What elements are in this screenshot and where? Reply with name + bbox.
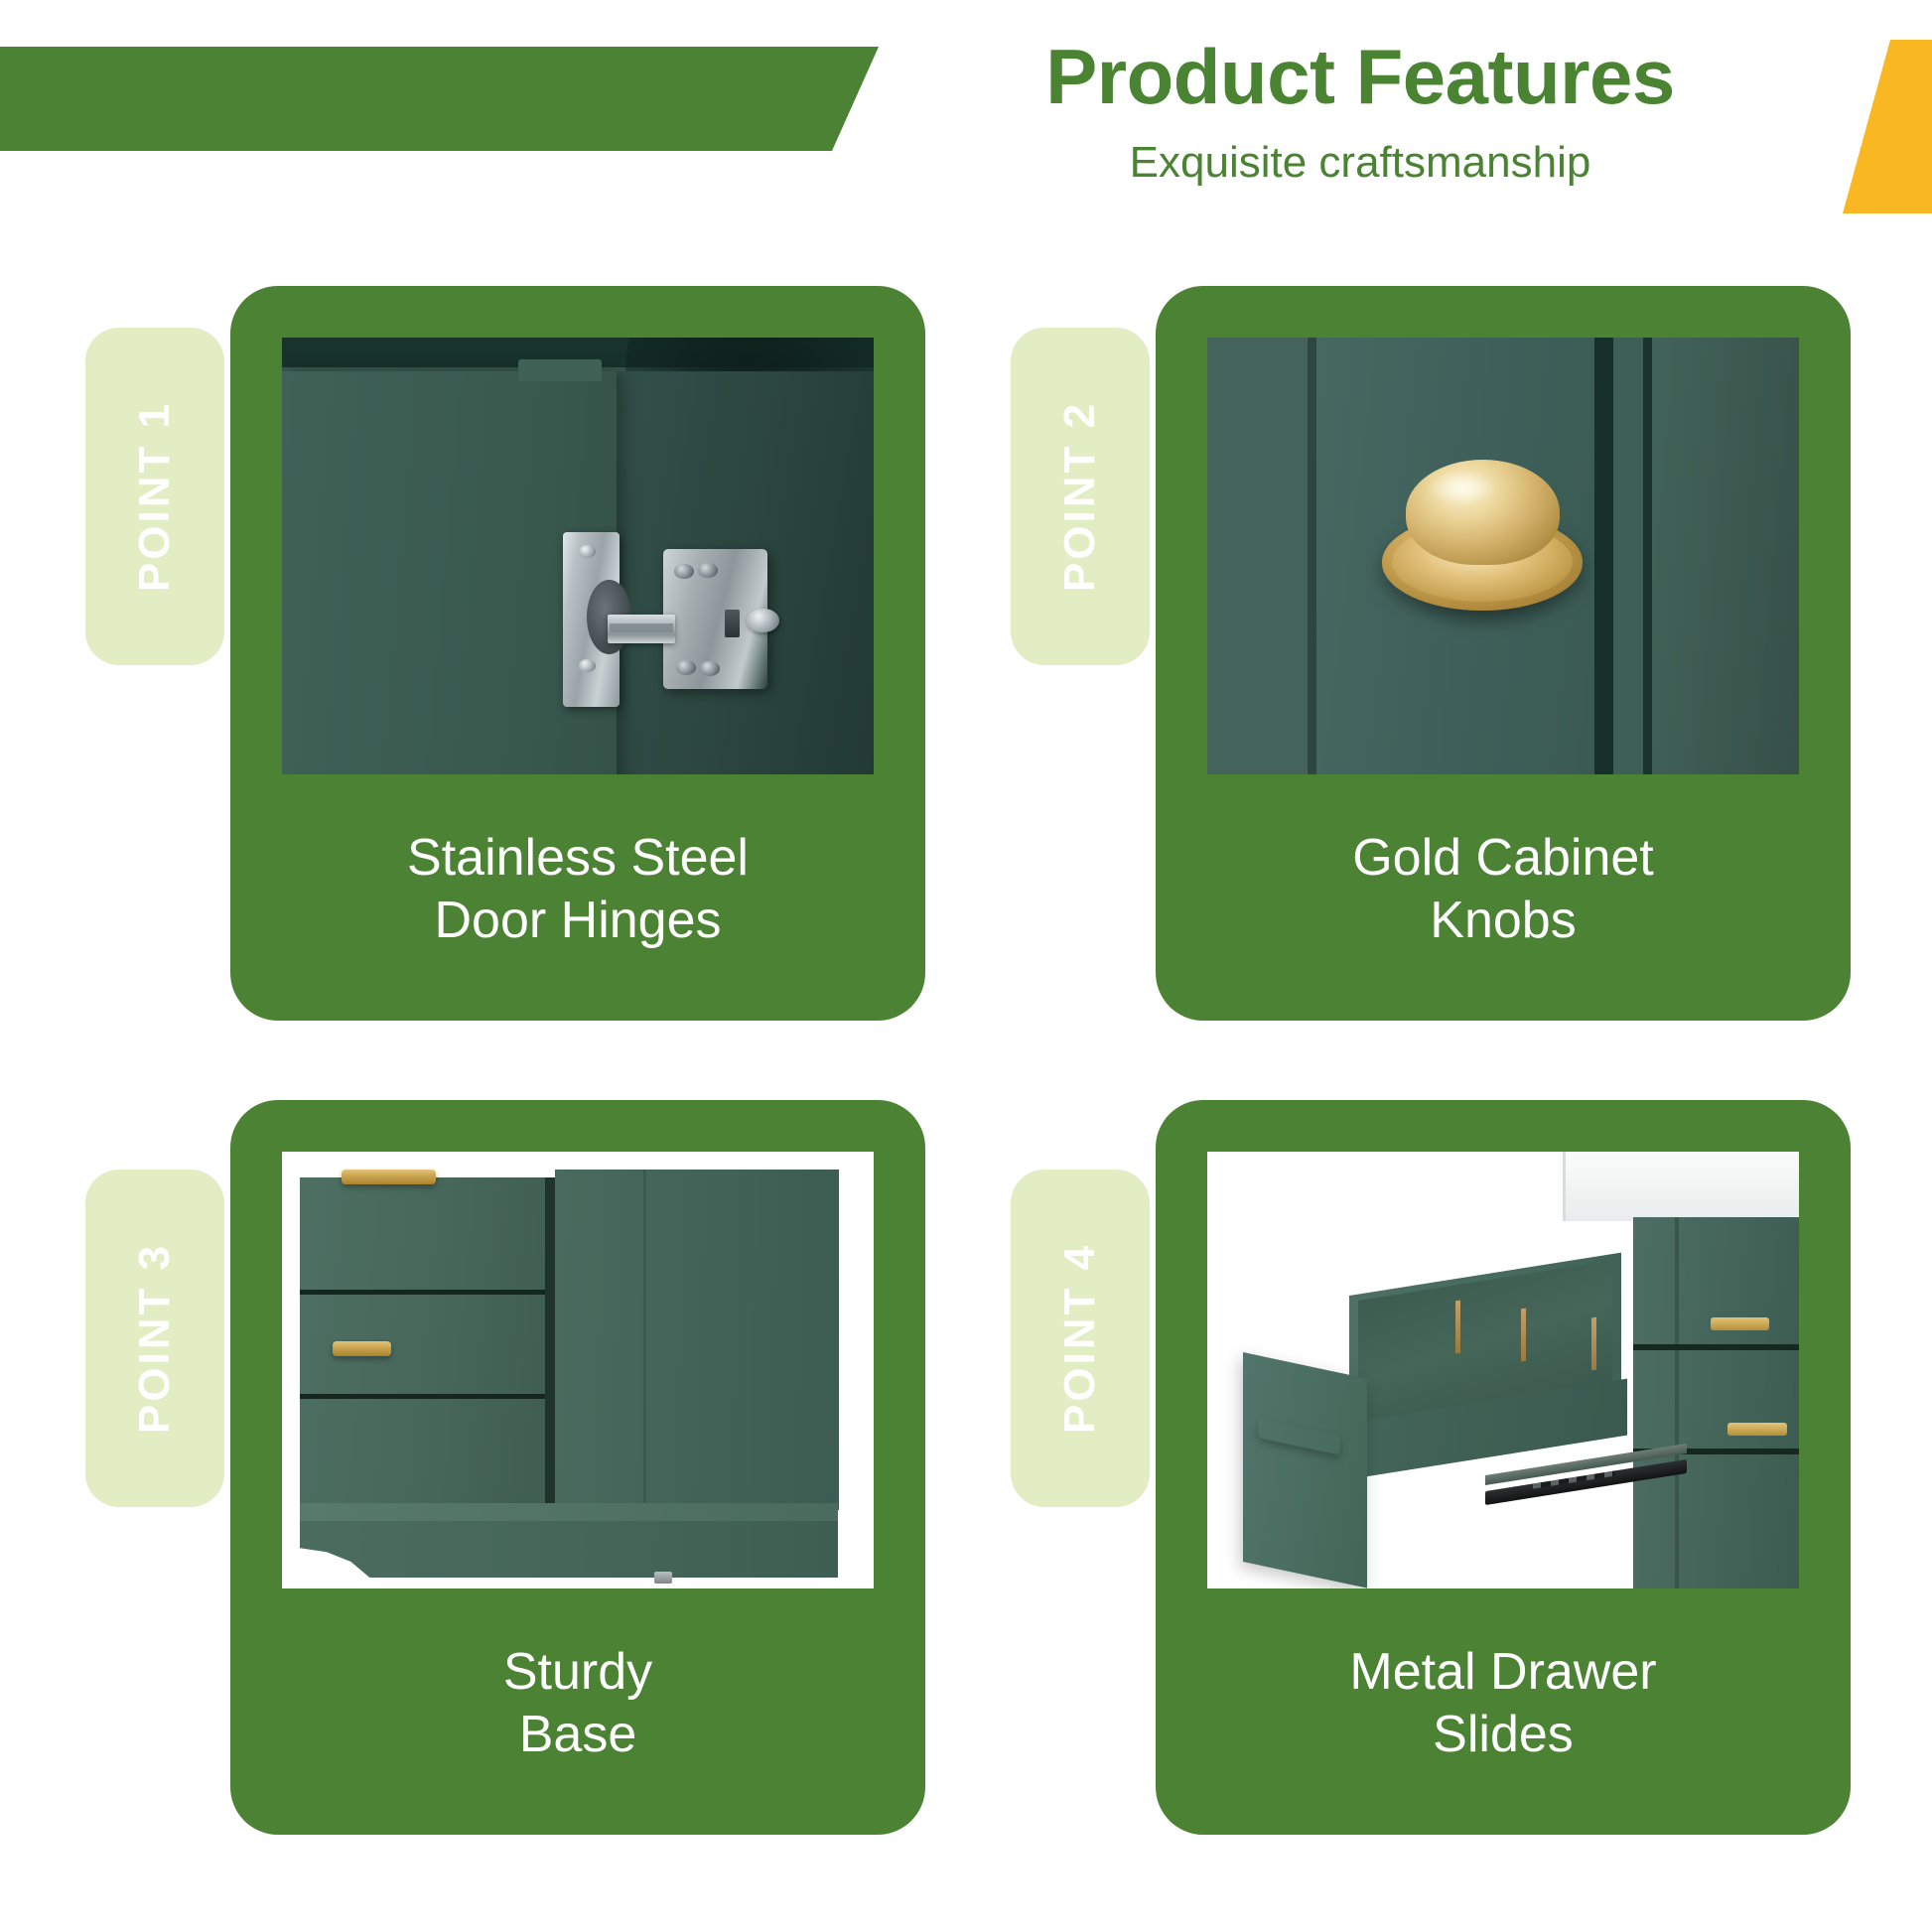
hinge-arm-notch xyxy=(610,623,673,633)
leveling-foot-icon xyxy=(654,1572,672,1583)
point-tab-3-label: POINT 3 xyxy=(130,1243,180,1434)
feature-card-4[interactable]: Metal Drawer Slides xyxy=(1156,1100,1851,1835)
feature-card-2[interactable]: Gold Cabinet Knobs xyxy=(1156,286,1851,1021)
feature-card-1[interactable]: Stainless Steel Door Hinges xyxy=(230,286,925,1021)
cabinet-door-hinge-photo xyxy=(282,338,874,774)
point-tab-3: POINT 3 xyxy=(85,1170,224,1507)
feature-card-3[interactable]: Sturdy Base xyxy=(230,1100,925,1835)
gold-drawer-pull-icon xyxy=(1711,1317,1770,1330)
feature-card-3-caption: Sturdy Base xyxy=(230,1641,925,1767)
gold-cabinet-knob-photo xyxy=(1207,338,1799,774)
feature-card-4-caption: Metal Drawer Slides xyxy=(1156,1641,1851,1767)
point-tab-2: POINT 2 xyxy=(1011,328,1150,665)
hinge-screw-icon xyxy=(676,660,696,675)
base-top-rail xyxy=(300,1503,838,1523)
header-yellow-accent-shape xyxy=(1843,40,1932,213)
point-tab-4-label: POINT 4 xyxy=(1055,1243,1105,1434)
point-tab-1: POINT 1 xyxy=(85,328,224,665)
metal-drawer-slides-photo xyxy=(1207,1152,1799,1588)
hinge-screw-icon xyxy=(698,563,718,578)
page-header: Product Features Exquisite craftsmanship xyxy=(0,0,1932,213)
gold-drawer-pull-icon xyxy=(1727,1423,1787,1436)
hinge-adjust-slot xyxy=(725,610,740,638)
hinge-adjust-screw-icon xyxy=(747,609,778,632)
header-green-banner xyxy=(0,47,879,151)
sturdy-base-photo xyxy=(282,1152,874,1588)
gold-drawer-pull-icon xyxy=(333,1341,392,1356)
point-tab-2-label: POINT 2 xyxy=(1055,401,1105,592)
plinth-base xyxy=(300,1521,838,1578)
drawer-divider xyxy=(1521,1309,1526,1362)
drawer-divider xyxy=(1591,1317,1596,1371)
hinge-screw-icon xyxy=(674,564,694,579)
point-tab-4: POINT 4 xyxy=(1011,1170,1150,1507)
page-title: Product Features xyxy=(923,38,1797,117)
point-tab-1-label: POINT 1 xyxy=(130,401,180,592)
drawer-front-panel xyxy=(1243,1352,1367,1588)
cabinet-body xyxy=(1633,1217,1799,1588)
drawer-divider xyxy=(1455,1300,1460,1353)
countertop xyxy=(1563,1152,1799,1221)
feature-card-1-caption: Stainless Steel Door Hinges xyxy=(230,827,925,953)
hinge-screw-icon xyxy=(579,545,597,558)
gold-drawer-pull-icon xyxy=(342,1170,436,1185)
page-subtitle: Exquisite craftsmanship xyxy=(923,139,1797,187)
feature-card-2-caption: Gold Cabinet Knobs xyxy=(1156,827,1851,953)
